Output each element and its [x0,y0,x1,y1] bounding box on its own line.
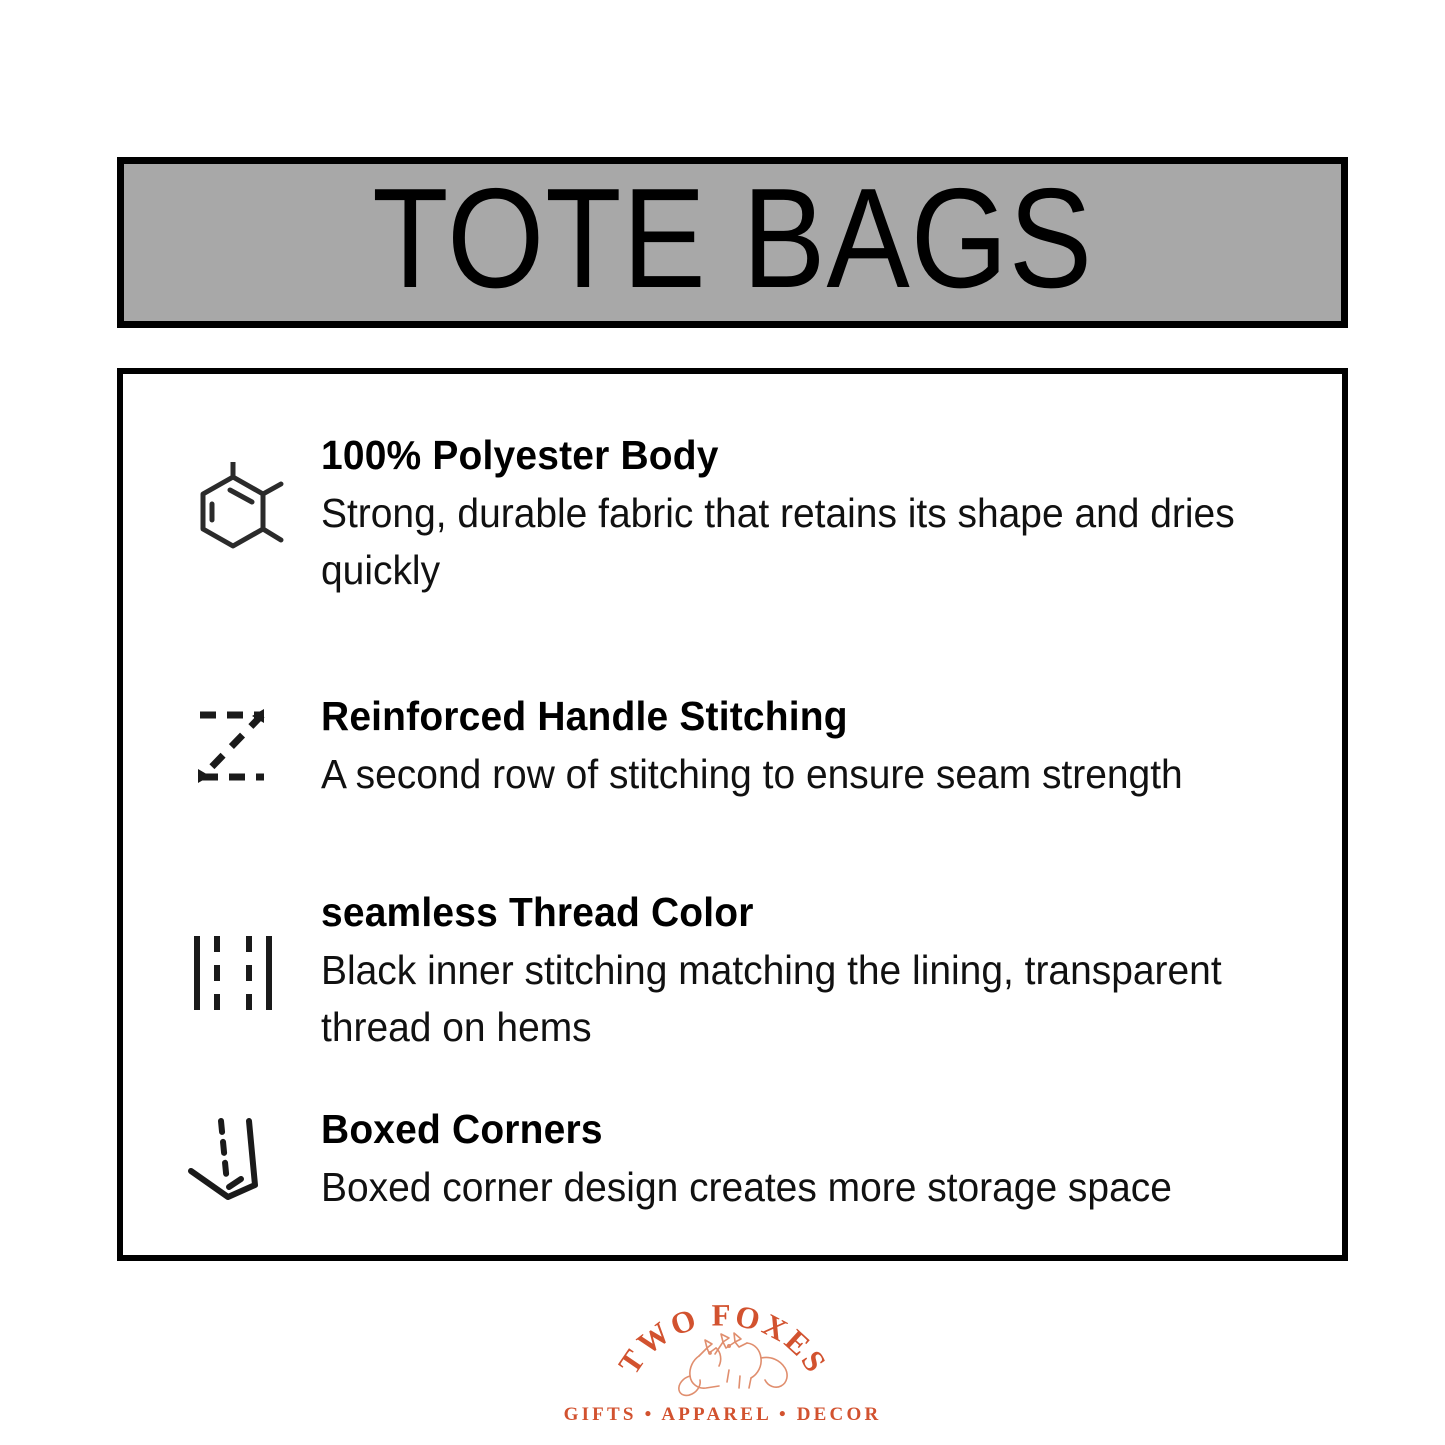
feature-title: 100% Polyester Body [321,433,1272,479]
brand-logo: TWO FOXES [0,1298,1445,1445]
logo-mark: TWO FOXES [603,1298,843,1410]
feature-title: seamless Thread Color [321,890,1272,936]
feature-description: Boxed corner design creates more storage… [321,1159,1272,1216]
page-title: TOTE BAGS [372,168,1093,318]
feature-description: Black inner stitching matching the linin… [321,942,1272,1055]
feature-item-reinforced-handle-stitching: Reinforced Handle Stitching A second row… [163,636,1322,861]
feature-item-polyester-body: 100% Polyester Body Strong, durable fabr… [163,396,1322,636]
feature-text-block: Reinforced Handle Stitching A second row… [303,694,1322,802]
feature-text-block: 100% Polyester Body Strong, durable fabr… [303,433,1322,598]
feature-item-seamless-thread-color: seamless Thread Color Black inner stitch… [163,861,1322,1086]
feature-item-boxed-corners: Boxed Corners Boxed corner design create… [163,1085,1322,1237]
polyester-molecule-icon [163,462,303,570]
feature-title: Boxed Corners [321,1107,1272,1153]
boxed-corner-icon [163,1113,303,1209]
features-list: 100% Polyester Body Strong, durable fabr… [123,374,1342,1255]
double-seam-stitch-icon [163,930,303,1016]
zigzag-stitch-icon [163,703,303,793]
feature-text-block: Boxed Corners Boxed corner design create… [303,1107,1322,1215]
feature-description: A second row of stitching to ensure seam… [321,746,1272,803]
feature-title: Reinforced Handle Stitching [321,694,1272,740]
feature-description: Strong, durable fabric that retains its … [321,485,1272,598]
feature-text-block: seamless Thread Color Black inner stitch… [303,890,1322,1055]
header-banner: TOTE BAGS [117,157,1348,328]
features-panel: 100% Polyester Body Strong, durable fabr… [117,368,1348,1261]
flyer-page: TOTE BAGS [0,0,1445,1445]
